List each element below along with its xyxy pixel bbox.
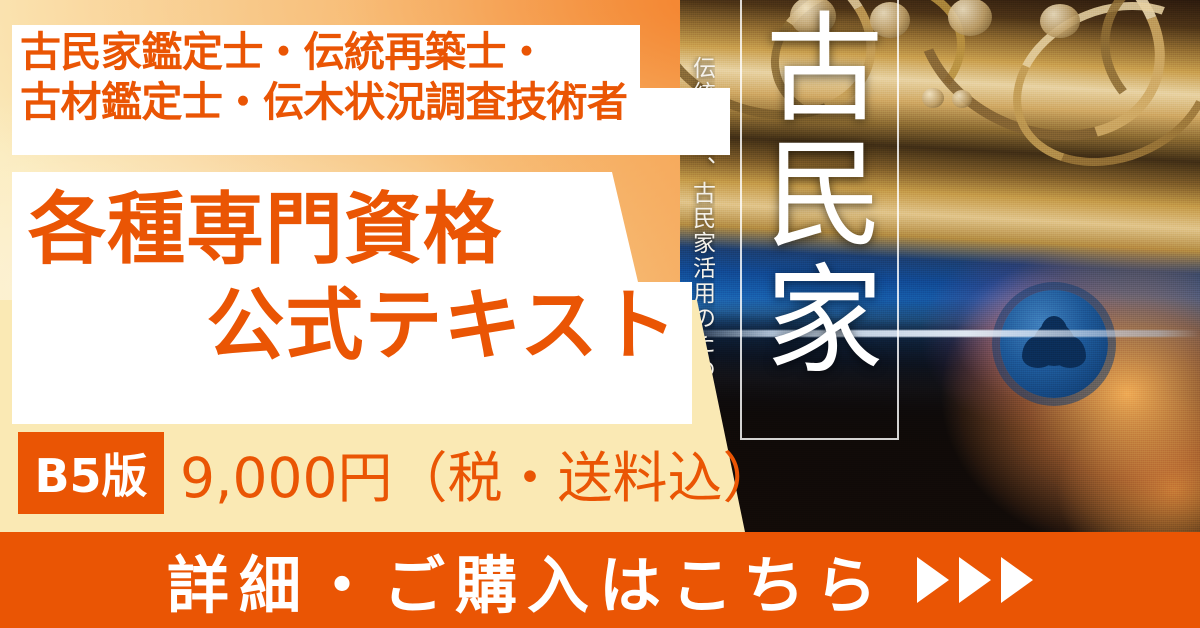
cta-button[interactable]: 詳細・ご購入はこちら [0, 532, 1200, 628]
promo-banner: 古民家 伝統構法、古民家活用のための調査と再生の 古民家鑑定士・伝統再築士・ 古… [0, 0, 1200, 628]
cta-label: 詳細・ご購入はこちら [167, 535, 887, 625]
price-text: 9,000円（税・送料込） [180, 430, 700, 516]
play-arrow-icon [959, 557, 991, 603]
cta-arrows [917, 557, 1033, 603]
play-arrow-icon [1001, 557, 1033, 603]
headline-block: 各種専門資格 公式テキスト [16, 182, 686, 374]
play-arrow-icon [917, 557, 949, 603]
headline-line-1: 各種専門資格 [16, 182, 686, 278]
qualifications-text: 古民家鑑定士・伝統再築士・ 古材鑑定士・伝木状況調査技術者 [20, 27, 720, 127]
format-badge: B5版 [18, 432, 164, 514]
format-badge-label: B5版 [34, 440, 147, 506]
cover-title: 古民家 [756, 6, 882, 384]
headline-line-2: 公式テキスト [16, 278, 686, 374]
